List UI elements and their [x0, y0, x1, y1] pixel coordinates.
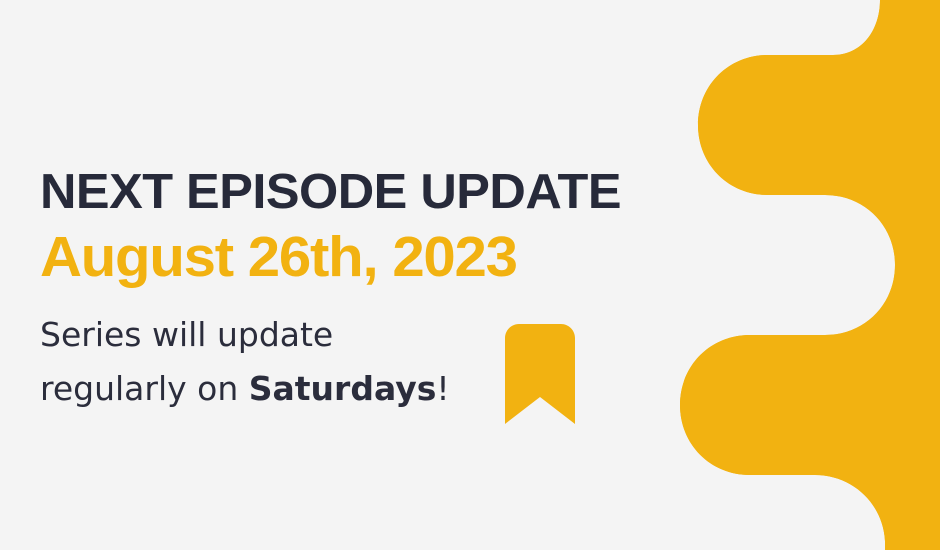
subtitle-block: Series will update regularly on Saturday…: [40, 308, 680, 416]
subtitle-line-2: regularly on Saturdays!: [40, 362, 680, 416]
subtitle-prefix: regularly on: [40, 369, 249, 408]
page-title: NEXT EPISODE UPDATE: [40, 168, 699, 218]
episode-date: August 26th, 2023: [40, 228, 693, 286]
subtitle-line-1: Series will update: [40, 308, 680, 362]
banner-content: NEXT EPISODE UPDATE August 26th, 2023 Se…: [40, 168, 680, 416]
next-episode-update-banner: NEXT EPISODE UPDATE August 26th, 2023 Se…: [0, 0, 940, 550]
subtitle-emphasis: Saturdays: [249, 369, 437, 408]
bookmark-icon: [505, 324, 575, 424]
subtitle-suffix: !: [436, 369, 449, 408]
